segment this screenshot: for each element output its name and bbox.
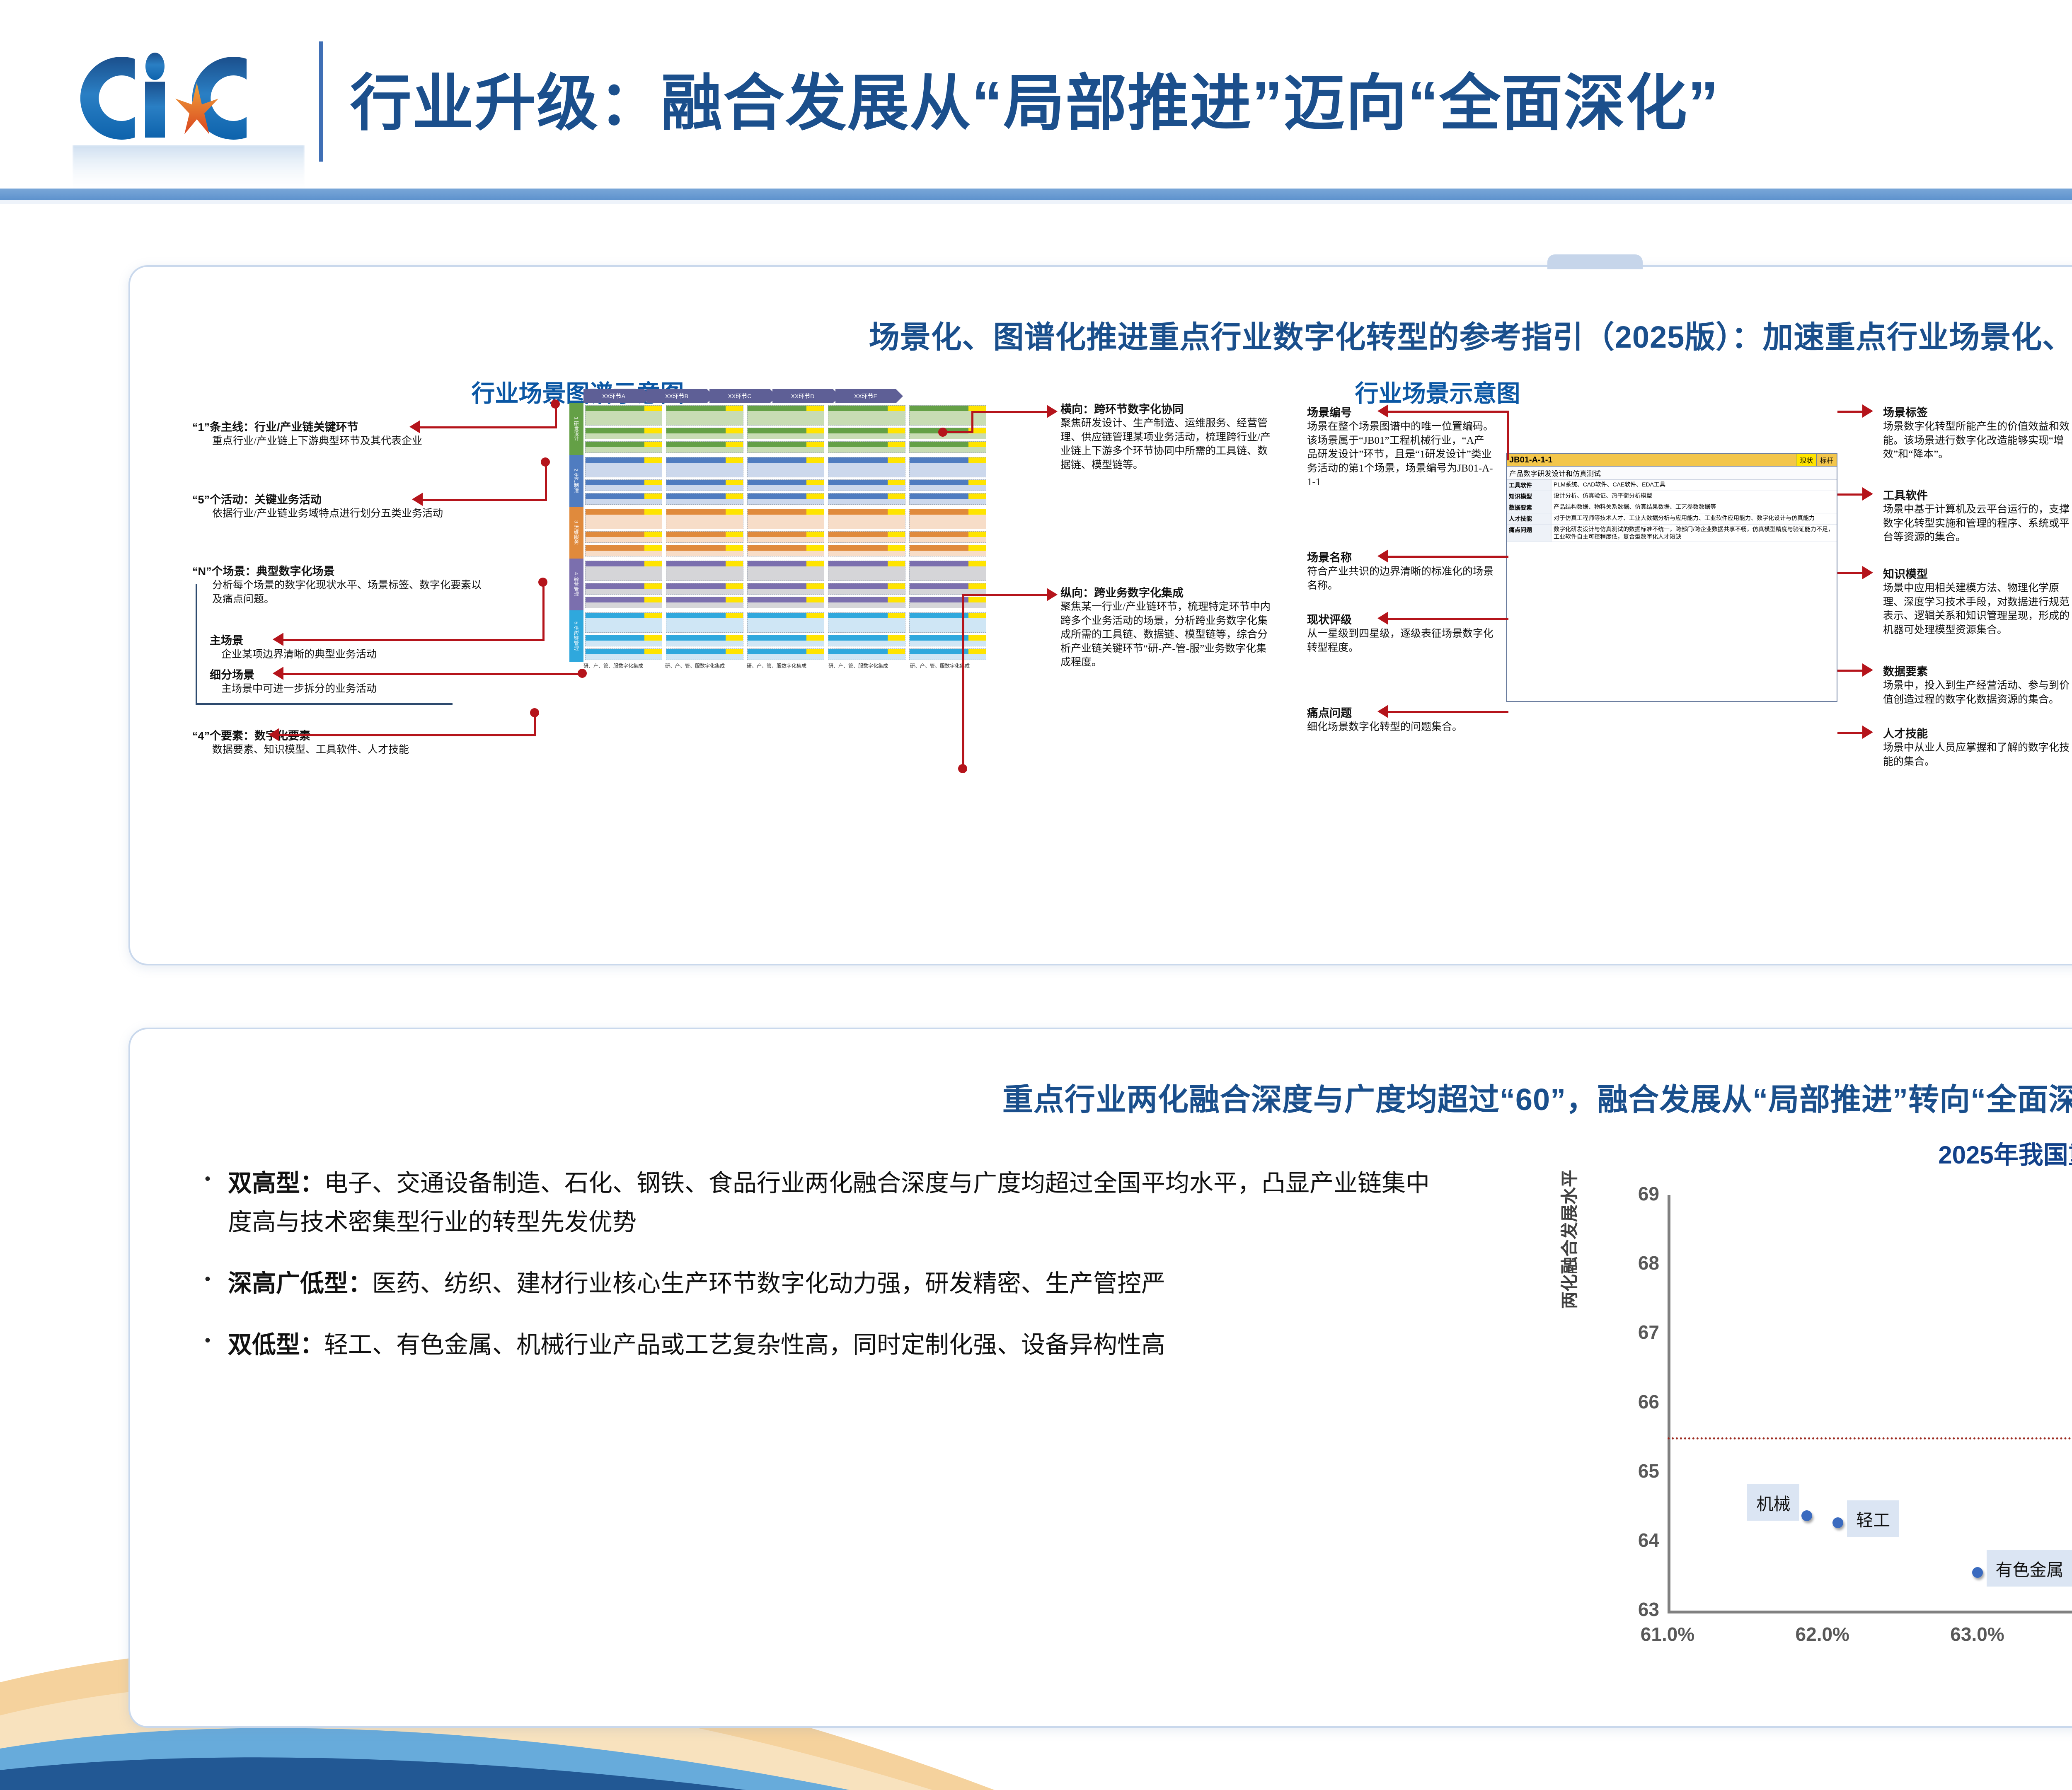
scene-card-row: 人才技能对于仿真工程师等技术人才、工业大数据分析与应用能力、工业软件应用能力、数… bbox=[1507, 513, 1837, 525]
chain-band: 1 研发设计 bbox=[569, 403, 988, 455]
card-upper-title: 场景化、图谱化推进重点行业数字化转型的参考指引（2025版）：加速重点行业场景化… bbox=[130, 312, 2072, 357]
chart-x-tick: 61.0% bbox=[1610, 1623, 1726, 1645]
annotation-elements: “4”个要素：数字化要素 数据要素、知识模型、工具软件、人才技能 bbox=[192, 727, 482, 757]
slide-root: 行业升级：融合发展从“局部推进”迈向“全面深化” 场景化、图谱化推进重点行业数字… bbox=[0, 0, 2072, 1790]
connector-line-3b bbox=[542, 582, 545, 641]
scene-row-key: 知识模型 bbox=[1507, 491, 1552, 502]
page-title: 行业升级：融合发展从“局部推进”迈向“全面深化” bbox=[350, 53, 1719, 142]
scene-ann-model-body: 场景中应用相关建模方法、物理化学原理、深度学习技术手段，对数据进行规范表示、逻辑… bbox=[1883, 581, 2072, 637]
scene-line-rating bbox=[1388, 618, 1508, 620]
scene-arrow-tag bbox=[1862, 404, 1873, 418]
connector-arrow-5 bbox=[269, 728, 279, 741]
scene-arrow-talent bbox=[1862, 726, 1873, 739]
chain-stage: XX环节D bbox=[772, 389, 833, 403]
scene-ann-code-body: 场景在整个场景图谱中的唯一位置编码。该场景属于“JB01”工程机械行业，“A产品… bbox=[1307, 420, 1493, 489]
chain-scene-cell bbox=[585, 405, 662, 426]
bullet-marker: • bbox=[205, 1264, 228, 1303]
chain-scene-cell bbox=[585, 479, 662, 491]
chain-scene-cell bbox=[666, 428, 743, 439]
chain-scene-cell bbox=[585, 612, 662, 633]
scene-arrow-data bbox=[1862, 663, 1873, 677]
chain-stage-header: XX环节AXX环节BXX环节CXX环节DXX环节E bbox=[569, 389, 988, 403]
scene-line-code bbox=[1388, 411, 1508, 413]
scene-ann-tool: 工具软件 场景中基于计算机及云平台运行的，支撑数字化转型实施和管理的程序、系统或… bbox=[1883, 486, 2072, 544]
scene-line-code-v bbox=[1507, 411, 1509, 460]
annotation-vertical-body: 聚焦某一行业/产业链环节，梳理特定环节中内跨多个业务活动的场景，分析跨业务数字化… bbox=[1060, 600, 1276, 670]
chain-scene-cell bbox=[828, 493, 905, 505]
connector-dot-3 bbox=[538, 578, 547, 587]
header-accent-bar-light bbox=[0, 200, 2072, 204]
scene-ann-code: 场景编号 场景在整个场景图谱中的唯一位置编码。该场景属于“JB01”工程机械行业… bbox=[1307, 404, 1493, 489]
scene-arrow-rating bbox=[1377, 612, 1388, 625]
chain-scene-cell bbox=[585, 457, 662, 477]
chain-scene-cell bbox=[747, 441, 824, 453]
chain-scene-cell bbox=[828, 457, 905, 477]
scene-card-star-headers: 现状 标杆 bbox=[1796, 454, 1837, 466]
chain-scene-cell bbox=[666, 583, 743, 595]
chain-scene-cell bbox=[585, 648, 662, 660]
chain-scene-cell bbox=[747, 405, 824, 426]
chain-band: 3 运维服务 bbox=[569, 507, 988, 559]
scene-ann-tag-head: 场景标签 bbox=[1883, 404, 2072, 420]
scene-line-pain bbox=[1388, 711, 1508, 713]
chain-band-label: 3 运维服务 bbox=[569, 507, 583, 559]
insight-bullet: •深高广低型：医药、纺织、建材行业核心生产环节数字化动力强，研发精密、生产管控严 bbox=[205, 1264, 1448, 1303]
chain-band-label: 5 供应链管理 bbox=[569, 610, 583, 662]
card-upper-tab bbox=[1547, 254, 1643, 269]
chart-refnote-x: 全国平均水平64.4% bbox=[2057, 1151, 2072, 1193]
annotation-vertical: 纵向：跨业务数字化集成 聚焦某一行业/产业链环节，梳理特定环节中内跨多个业务活动… bbox=[1060, 584, 1276, 670]
card-lower-title: 重点行业两化融合深度与广度均超过“60”，融合发展从“局部推进”转向“全面深化”… bbox=[130, 1075, 2072, 1119]
chart-refnote-value: 64.4% bbox=[2057, 1172, 2072, 1193]
scene-line-name bbox=[1388, 556, 1508, 558]
connector-dot-5 bbox=[530, 708, 539, 717]
chain-scene-cell bbox=[828, 561, 905, 581]
chain-scene-cell bbox=[909, 405, 986, 426]
page-header: 行业升级：融合发展从“局部推进”迈向“全面深化” bbox=[0, 0, 2072, 195]
chain-scene-cell bbox=[747, 545, 824, 556]
chain-footer-note: 研、产、管、服数字化集成 bbox=[828, 662, 906, 669]
annotation-horizontal-body: 聚焦研发设计、生产制造、运维服务、经营管理、供应链管理某项业务活动，梳理跨行业/… bbox=[1060, 416, 1276, 472]
bullet-text: 深高广低型：医药、纺织、建材行业核心生产环节数字化动力强，研发精密、生产管控严 bbox=[228, 1264, 1165, 1303]
scene-ann-data: 数据要素 场景中，投入到生产经营活动、参与到价值创造过程的数字化数据资源的集合。 bbox=[1883, 663, 2072, 706]
scene-ann-name-body: 符合产业共识的边界清晰的标准化的场景名称。 bbox=[1307, 565, 1493, 593]
chart-refnote-label: 全国平均水平 bbox=[2057, 1151, 2072, 1172]
chart-y-tick: 68 bbox=[1614, 1252, 1659, 1274]
chain-bands: 1 研发设计2 生产制造3 运维服务4 经营管理5 供应链管理 bbox=[569, 403, 988, 662]
annotation-scenes-head: “N”个场景：典型数字化场景 bbox=[192, 562, 482, 578]
scene-row-value: 数字化研发设计与仿真测试的数据标准不统一，跨部门/跨企业数据共享不畅，仿真模型精… bbox=[1552, 525, 1837, 542]
scene-ann-tag: 场景标签 场景数字化转型所能产生的价值效益和效能。该场景进行数字化改造能够实现“… bbox=[1883, 404, 2072, 462]
bullet-text: 双低型：轻工、有色金属、机械行业产品或工艺复杂性高，同时定制化强、设备异构性高 bbox=[228, 1326, 1165, 1364]
chain-scene-cell bbox=[585, 493, 662, 505]
chart-refline-horizontal bbox=[1668, 1437, 2072, 1439]
scene-arrow-name bbox=[1377, 549, 1388, 563]
scene-ann-talent-body: 场景中从业人员应掌握和了解的数字化技能的集合。 bbox=[1883, 741, 2072, 769]
chain-scene-cell bbox=[585, 531, 662, 543]
connector-arrow-h bbox=[1047, 405, 1058, 418]
chart-y-axis-label: 两化融合发展水平 bbox=[1556, 1170, 1581, 1309]
scene-ann-talent-head: 人才技能 bbox=[1883, 725, 2072, 741]
chain-scene-cell bbox=[666, 531, 743, 543]
chain-scene-cell bbox=[909, 545, 986, 556]
insight-bullet: •双高型：电子、交通设备制造、石化、钢铁、食品行业两化融合深度与广度均超过全国平… bbox=[205, 1164, 1448, 1242]
chain-scene-cell bbox=[666, 612, 743, 633]
chain-scene-cell bbox=[747, 612, 824, 633]
annotation-sub-scene-body: 主场景中可进一步拆分的业务活动 bbox=[210, 682, 491, 696]
scene-arrow-pain bbox=[1377, 705, 1388, 718]
scene-arrow-tool bbox=[1862, 487, 1873, 501]
chain-scene-cell bbox=[909, 493, 986, 505]
chain-stage: XX环节C bbox=[709, 389, 770, 403]
chart-point[interactable] bbox=[1832, 1517, 1843, 1528]
scene-ann-model-head: 知识模型 bbox=[1883, 565, 2072, 581]
chain-scene-cell bbox=[666, 457, 743, 477]
scene-card-code: JB01-A-1-1 bbox=[1507, 454, 1837, 467]
scene-row-key: 工具软件 bbox=[1507, 480, 1552, 491]
bullet-marker: • bbox=[205, 1164, 228, 1242]
scene-ann-talent: 人才技能 场景中从业人员应掌握和了解的数字化技能的集合。 bbox=[1883, 725, 2072, 769]
scene-ann-rating-body: 从一星级到四星级，逐级表征场景数字化转型程度。 bbox=[1307, 627, 1493, 655]
chain-scene-cell bbox=[747, 597, 824, 608]
chain-scene-cell bbox=[909, 441, 986, 453]
chart-y-tick: 66 bbox=[1614, 1391, 1659, 1413]
chain-scene-cell bbox=[747, 635, 824, 646]
scene-star-benchmark: 标杆 bbox=[1816, 454, 1837, 466]
chart-point[interactable] bbox=[1972, 1567, 1983, 1578]
scene-row-key: 痛点问题 bbox=[1507, 525, 1552, 542]
chain-band-label: 1 研发设计 bbox=[569, 403, 583, 455]
scene-card-name: 产品数字研发设计和仿真测试 bbox=[1507, 467, 1837, 480]
connector-line-h bbox=[973, 411, 1048, 413]
chain-scene-cell bbox=[828, 583, 905, 595]
chain-scene-cell bbox=[666, 493, 743, 505]
chart-y-tick: 67 bbox=[1614, 1321, 1659, 1343]
chain-scene-cell bbox=[828, 428, 905, 439]
chain-scene-cell bbox=[666, 479, 743, 491]
chain-scene-cell bbox=[747, 648, 824, 660]
scene-line-model bbox=[1837, 572, 1863, 574]
connector-line-5 bbox=[279, 734, 536, 736]
connector-dot-2 bbox=[541, 457, 550, 467]
chain-footer-note: 研、产、管、服数字化集成 bbox=[747, 662, 825, 669]
chain-scene-cell bbox=[747, 531, 824, 543]
scene-card-row: 数据要素产品结构数据、物料关系数据、仿真结果数据、工艺参数数据等 bbox=[1507, 502, 1837, 513]
chain-scene-cell bbox=[666, 441, 743, 453]
scene-card-row: 工具软件PLM系统、CAD软件、CAE软件、EDA工具 bbox=[1507, 480, 1837, 491]
scene-ann-rating: 现状评级 从一星级到四星级，逐级表征场景数字化转型程度。 bbox=[1307, 611, 1493, 655]
chain-band-label: 2 生产制造 bbox=[569, 455, 583, 507]
chain-scene-cell bbox=[828, 635, 905, 646]
scene-line-data bbox=[1837, 670, 1863, 672]
cic-logo bbox=[73, 46, 305, 150]
chart-x-tick: 62.0% bbox=[1765, 1623, 1881, 1645]
connector-line-2 bbox=[423, 499, 547, 501]
scene-detail-card: JB01-A-1-1 产品数字研发设计和仿真测试 工具软件PLM系统、CAD软件… bbox=[1506, 453, 1837, 702]
chain-scene-cell bbox=[747, 583, 824, 595]
chain-scene-cell bbox=[747, 509, 824, 529]
chain-scene-cell bbox=[747, 428, 824, 439]
insight-bullet: •双低型：轻工、有色金属、机械行业产品或工艺复杂性高，同时定制化强、设备异构性高 bbox=[205, 1326, 1448, 1364]
scene-row-value: PLM系统、CAD软件、CAE软件、EDA工具 bbox=[1552, 480, 1837, 491]
scene-ann-tag-body: 场景数字化转型所能产生的价值效益和效能。该场景进行数字化改造能够实现“增效”和“… bbox=[1883, 420, 2072, 462]
chart-y-tick: 69 bbox=[1614, 1183, 1659, 1205]
chart-y-axis bbox=[1668, 1195, 1670, 1613]
industry-chain-map: XX环节AXX环节BXX环节CXX环节DXX环节E 1 研发设计2 生产制造3 … bbox=[569, 389, 988, 828]
bullet-lead: 深高广低型： bbox=[228, 1270, 372, 1297]
connector-line-vb bbox=[962, 594, 964, 768]
chain-scene-cell bbox=[828, 531, 905, 543]
connector-arrow-v bbox=[1047, 588, 1058, 601]
chain-scene-cell bbox=[666, 635, 743, 646]
chain-scene-cell bbox=[747, 493, 824, 505]
chain-scene-cell bbox=[747, 561, 824, 581]
scene-line-talent bbox=[1837, 732, 1863, 734]
chain-scene-cell bbox=[585, 583, 662, 595]
scene-line-tool bbox=[1837, 493, 1863, 496]
connector-line-v bbox=[963, 594, 1048, 596]
annotation-elements-body: 数据要素、知识模型、工具软件、人才技能 bbox=[192, 743, 482, 757]
annotation-mainline: “1”条主线：行业/产业链关键环节 重点行业/产业链上下游典型环节及其代表企业 bbox=[192, 418, 482, 448]
connector-arrow-2 bbox=[412, 493, 423, 506]
chain-scene-cell bbox=[909, 561, 986, 581]
annotation-horizontal-head: 横向：跨环节数字化协同 bbox=[1060, 400, 1276, 416]
chain-scene-cell bbox=[747, 457, 824, 477]
scene-row-key: 人才技能 bbox=[1507, 513, 1552, 524]
chain-footer-notes: 研、产、管、服数字化集成研、产、管、服数字化集成研、产、管、服数字化集成研、产、… bbox=[569, 662, 988, 669]
chart-point-label: 机械 bbox=[1747, 1484, 1799, 1521]
connector-arrow-1 bbox=[409, 420, 420, 433]
annotation-vertical-head: 纵向：跨业务数字化集成 bbox=[1060, 584, 1276, 600]
chart-point-label: 轻工 bbox=[1847, 1500, 1899, 1537]
scene-row-value: 对于仿真工程师等技术人才、工业大数据分析与应用能力、工业软件应用能力、数字化设计… bbox=[1552, 513, 1837, 524]
connector-line-1 bbox=[420, 426, 557, 428]
chain-scene-cell bbox=[828, 597, 905, 608]
card-lower: 重点行业两化融合深度与广度均超过“60”，融合发展从“局部推进”转向“全面深化”… bbox=[128, 1028, 2072, 1728]
chain-scene-cell bbox=[666, 648, 743, 660]
chart-point-label: 有色金属 bbox=[1987, 1550, 2072, 1587]
chain-scene-cell bbox=[909, 428, 986, 439]
connector-line-4 bbox=[283, 673, 582, 675]
scene-arrow-code bbox=[1377, 404, 1388, 418]
chain-band: 2 生产制造 bbox=[569, 455, 988, 507]
connector-arrow-4 bbox=[273, 667, 283, 680]
chart-x-tick: 63.0% bbox=[1920, 1623, 2036, 1645]
chain-scene-cell bbox=[828, 612, 905, 633]
scene-card-row: 痛点问题数字化研发设计与仿真测试的数据标准不统一，跨部门/跨企业数据共享不畅，仿… bbox=[1507, 525, 1837, 542]
scene-ann-tool-body: 场景中基于计算机及云平台运行的，支撑数字化转型实施和管理的程序、系统或平台等资源… bbox=[1883, 503, 2072, 544]
connector-line-hc bbox=[940, 431, 973, 433]
chain-scene-cell bbox=[585, 561, 662, 581]
chain-band: 5 供应链管理 bbox=[569, 610, 988, 662]
scene-star-current: 现状 bbox=[1796, 454, 1816, 466]
chain-scene-cell bbox=[909, 509, 986, 529]
chain-stage: XX环节E bbox=[835, 389, 896, 403]
annotation-main-scene: 主场景 企业某项边界清晰的典型业务活动 bbox=[210, 631, 491, 662]
scene-card-row: 知识模型设计分析、仿真验证、热平衡分析模型 bbox=[1507, 491, 1837, 502]
chain-scene-cell bbox=[909, 583, 986, 595]
chain-scene-cell bbox=[828, 479, 905, 491]
chain-scene-cell bbox=[666, 561, 743, 581]
chain-scene-cell bbox=[585, 597, 662, 608]
chain-scene-cell bbox=[828, 441, 905, 453]
chain-scene-cell bbox=[828, 405, 905, 426]
scene-ann-data-body: 场景中，投入到生产经营活动、参与到价值创造过程的数字化数据资源的集合。 bbox=[1883, 679, 2072, 706]
scene-ann-data-head: 数据要素 bbox=[1883, 663, 2072, 679]
chain-scene-cell bbox=[585, 635, 662, 646]
scene-arrow-model bbox=[1862, 566, 1873, 579]
scene-ann-name: 场景名称 符合产业共识的边界清晰的标准化的场景名称。 bbox=[1307, 549, 1493, 593]
logo-reflection bbox=[73, 145, 305, 195]
scatter-chart: 2025年我国重点行业两化融合发展水平与两化融合达成度 636465666768… bbox=[1506, 1135, 2072, 1686]
chart-y-tick: 63 bbox=[1614, 1598, 1659, 1621]
scene-row-key: 数据要素 bbox=[1507, 502, 1552, 513]
bullet-lead: 双低型： bbox=[228, 1331, 324, 1358]
annotation-main-scene-body: 企业某项边界清晰的典型业务活动 bbox=[210, 648, 491, 662]
bullet-lead: 双高型： bbox=[228, 1170, 324, 1197]
chain-footer-note: 研、产、管、服数字化集成 bbox=[583, 662, 661, 669]
scene-ann-model: 知识模型 场景中应用相关建模方法、物理化学原理、深度学习技术手段，对数据进行规范… bbox=[1883, 565, 2072, 637]
chain-footer-note: 研、产、管、服数字化集成 bbox=[665, 662, 743, 669]
chain-scene-cell bbox=[666, 597, 743, 608]
chain-scene-cell bbox=[747, 479, 824, 491]
connector-line-2b bbox=[545, 462, 547, 501]
scene-row-value: 设计分析、仿真验证、热平衡分析模型 bbox=[1552, 491, 1837, 502]
connector-dot-1 bbox=[551, 399, 560, 409]
chain-stage: XX环节B bbox=[646, 389, 707, 403]
chain-scene-cell bbox=[585, 509, 662, 529]
chain-scene-cell bbox=[666, 405, 743, 426]
chart-title: 2025年我国重点行业两化融合发展水平与两化融合达成度 bbox=[1506, 1135, 2072, 1171]
chain-scene-cell bbox=[666, 509, 743, 529]
chain-stage: XX环节A bbox=[583, 389, 644, 403]
chain-scene-cell bbox=[828, 648, 905, 660]
chain-band-label: 4 经营管理 bbox=[569, 559, 583, 610]
insight-bullets: •双高型：电子、交通设备制造、石化、钢铁、食品行业两化融合深度与广度均超过全国平… bbox=[205, 1164, 1448, 1387]
card-upper: 场景化、图谱化推进重点行业数字化转型的参考指引（2025版）：加速重点行业场景化… bbox=[128, 265, 2072, 965]
connector-dot-v bbox=[958, 764, 967, 773]
connector-line-3 bbox=[283, 639, 545, 641]
chart-x-axis bbox=[1668, 1611, 2072, 1613]
chain-scene-cell bbox=[909, 612, 986, 633]
annotation-mainline-body: 重点行业/产业链上下游典型环节及其代表企业 bbox=[192, 434, 482, 448]
chain-scene-cell bbox=[909, 479, 986, 491]
scene-row-value: 产品结构数据、物料关系数据、仿真结果数据、工艺参数数据等 bbox=[1552, 502, 1837, 513]
annotation-activities-body: 依据行业/产业链业务域特点进行划分五类业务活动 bbox=[192, 507, 482, 521]
scene-card-rows: 工具软件PLM系统、CAD软件、CAE软件、EDA工具知识模型设计分析、仿真验证… bbox=[1507, 480, 1837, 542]
chain-scene-cell bbox=[585, 441, 662, 453]
scene-ann-pain-body: 细化场景数字化转型的问题集合。 bbox=[1307, 720, 1493, 734]
chain-footer-note: 研、产、管、服数字化集成 bbox=[910, 662, 988, 669]
chain-scene-cell bbox=[909, 648, 986, 660]
chain-band: 4 经营管理 bbox=[569, 559, 988, 610]
scene-ann-tool-head: 工具软件 bbox=[1883, 486, 2072, 503]
connector-arrow-3 bbox=[273, 633, 283, 646]
chain-scene-cell bbox=[585, 545, 662, 556]
bullet-marker: • bbox=[205, 1326, 228, 1364]
chart-point[interactable] bbox=[1801, 1510, 1812, 1521]
connector-line-hb bbox=[971, 411, 973, 432]
chart-y-tick: 64 bbox=[1614, 1529, 1659, 1551]
annotation-horizontal: 横向：跨环节数字化协同 聚焦研发设计、生产制造、运维服务、经营管理、供应链管理某… bbox=[1060, 400, 1276, 472]
chain-scene-cell bbox=[585, 428, 662, 439]
chain-scene-cell bbox=[666, 545, 743, 556]
scene-ann-pain: 痛点问题 细化场景数字化转型的问题集合。 bbox=[1307, 704, 1493, 734]
chain-scene-cell bbox=[909, 457, 986, 477]
annotation-sub-scene: 细分场景 主场景中可进一步拆分的业务活动 bbox=[210, 666, 491, 696]
header-divider bbox=[319, 41, 323, 162]
scene-line-tag bbox=[1837, 411, 1863, 413]
chain-scene-cell bbox=[828, 509, 905, 529]
chain-scene-cell bbox=[828, 545, 905, 556]
chain-scene-cell bbox=[909, 597, 986, 608]
annotation-activities: “5”个活动：关键业务活动 依据行业/产业链业务域特点进行划分五类业务活动 bbox=[192, 491, 482, 521]
chart-y-tick: 65 bbox=[1614, 1460, 1659, 1482]
chain-scene-cell bbox=[909, 531, 986, 543]
chain-scene-cell bbox=[909, 635, 986, 646]
bullet-text: 双高型：电子、交通设备制造、石化、钢铁、食品行业两化融合深度与广度均超过全国平均… bbox=[228, 1164, 1448, 1242]
header-accent-bar bbox=[0, 189, 2072, 200]
